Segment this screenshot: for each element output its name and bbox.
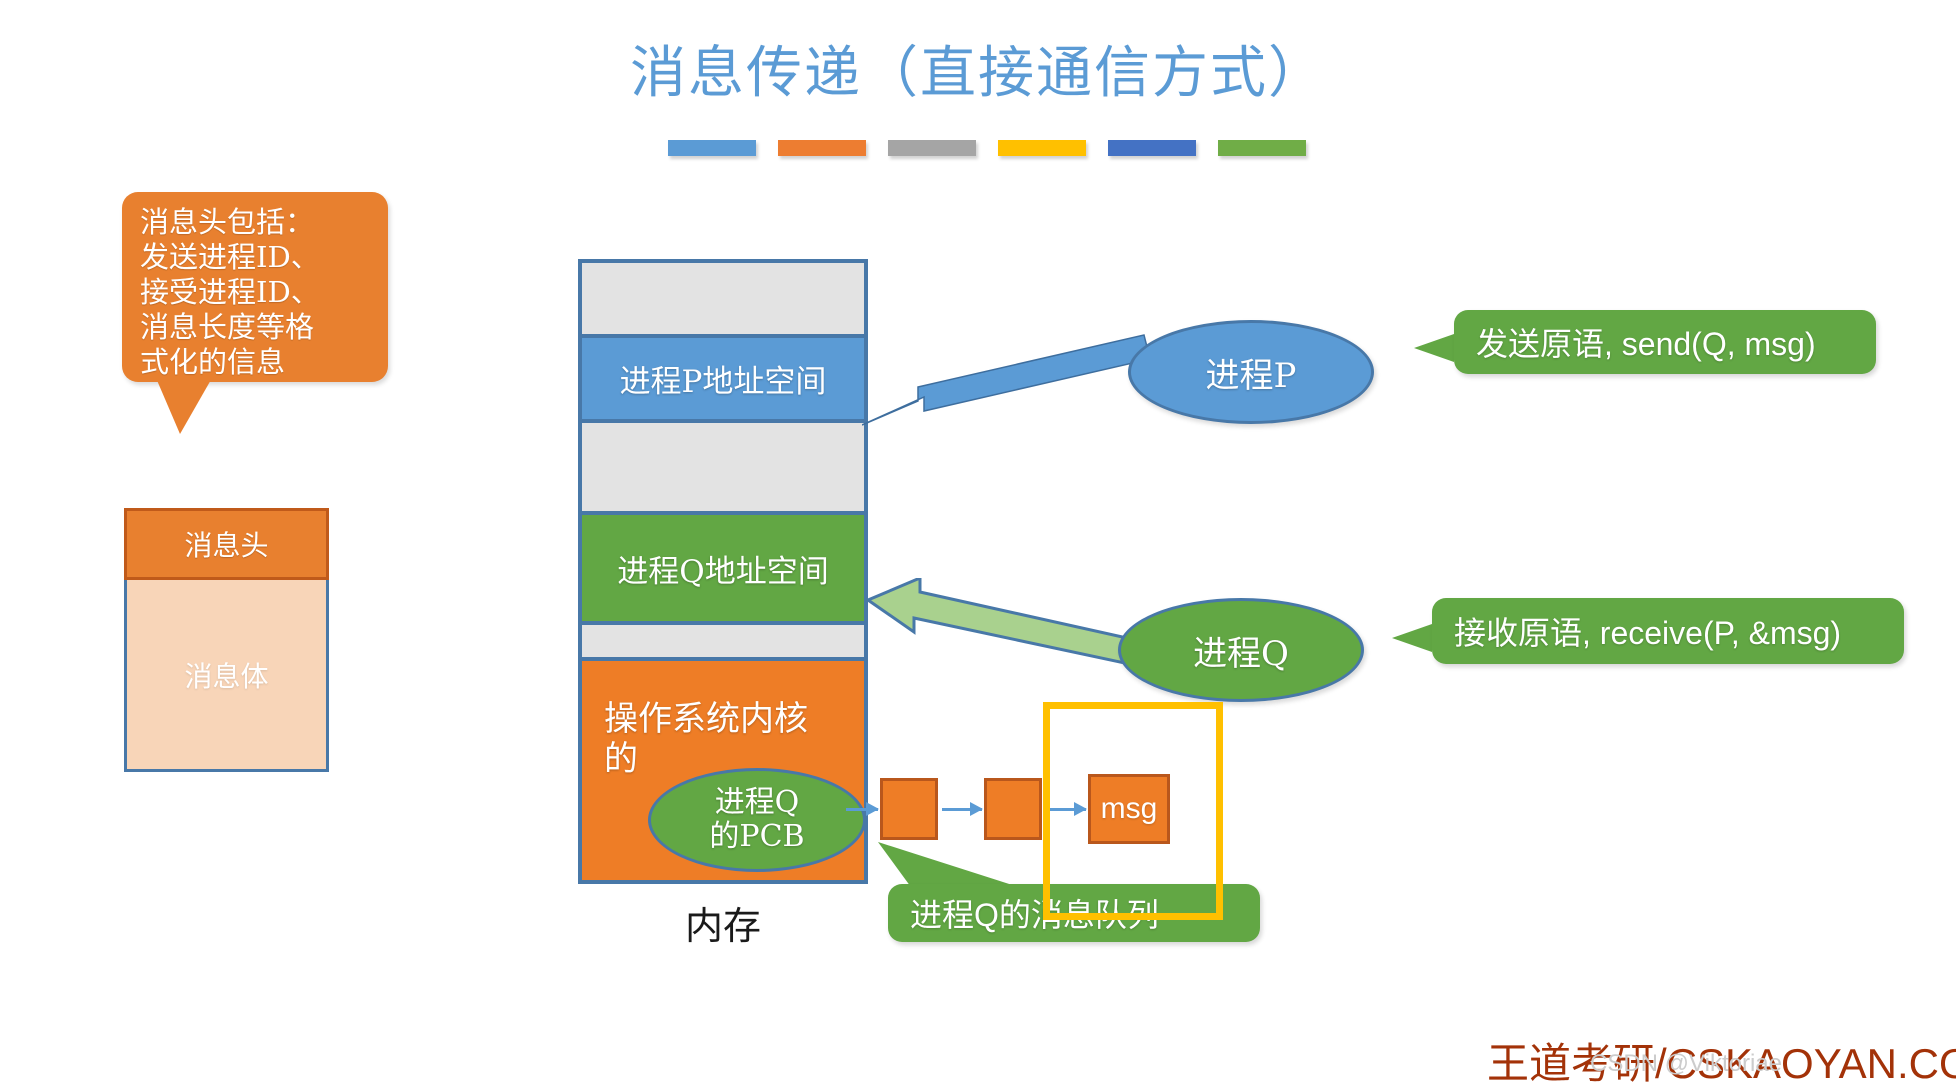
process-q-pcb-ellipse: 进程Q 的PCB: [648, 768, 866, 872]
process-q-label: 进程Q: [1193, 626, 1289, 675]
queue-highlight-rect: [1043, 702, 1223, 920]
memory-segment-process-p: 进程P地址空间: [582, 338, 864, 423]
process-q-ellipse: 进程Q: [1118, 598, 1364, 702]
queue-connector-0: [846, 808, 878, 811]
callout-tail-icon: [150, 378, 230, 436]
message-body-box: 消息体: [124, 580, 329, 772]
bar-yellow: [998, 140, 1086, 156]
send-primitive-callout: 发送原语, send(Q, msg): [1454, 310, 1876, 374]
send-primitive-text: 发送原语, send(Q, msg): [1476, 319, 1816, 365]
message-header-callout-text: 消息头包括： 发送进程ID、 接受进程ID、 消息长度等格 式化的信息: [140, 205, 380, 380]
bar-orange: [778, 140, 866, 156]
bar-dark-blue: [1108, 140, 1196, 156]
send-callout-tail-icon: [1414, 334, 1454, 362]
receive-primitive-text: 接收原语, receive(P, &msg): [1454, 608, 1841, 654]
queue-box-1: [880, 778, 938, 840]
memory-segment-free-2: [582, 423, 864, 515]
csdn-watermark: CSDN @Viktoriae: [1590, 1050, 1782, 1078]
queue-connector-1: [942, 808, 982, 811]
bar-blue: [668, 140, 756, 156]
bar-gray: [888, 140, 976, 156]
send-arrow-icon: [862, 325, 1152, 435]
receive-callout-tail-icon: [1392, 624, 1432, 652]
bar-green: [1218, 140, 1306, 156]
receive-arrow-icon: [868, 578, 1158, 678]
page-title: 消息传递（直接通信方式）: [0, 28, 1956, 109]
process-p-label: 进程P: [1206, 348, 1297, 397]
queue-box-2: [984, 778, 1042, 840]
memory-caption: 内存: [578, 895, 868, 950]
accent-bar-row: [668, 140, 1306, 156]
process-q-pcb-label: 进程Q 的PCB: [709, 786, 804, 854]
memory-segment-free-1: [582, 263, 864, 338]
kernel-label: 操作系统内核 的: [604, 699, 854, 779]
message-header-callout: 消息头包括： 发送进程ID、 接受进程ID、 消息长度等格 式化的信息: [122, 192, 388, 382]
process-p-ellipse: 进程P: [1128, 320, 1374, 424]
message-head-box: 消息头: [124, 508, 329, 580]
receive-primitive-callout: 接收原语, receive(P, &msg): [1432, 598, 1904, 664]
slide-canvas: 消息传递（直接通信方式） 消息头包括： 发送进程ID、 接受进程ID、 消息长度…: [0, 0, 1956, 1090]
memory-segment-process-q: 进程Q地址空间: [582, 515, 864, 625]
memory-segment-free-3: [582, 625, 864, 661]
